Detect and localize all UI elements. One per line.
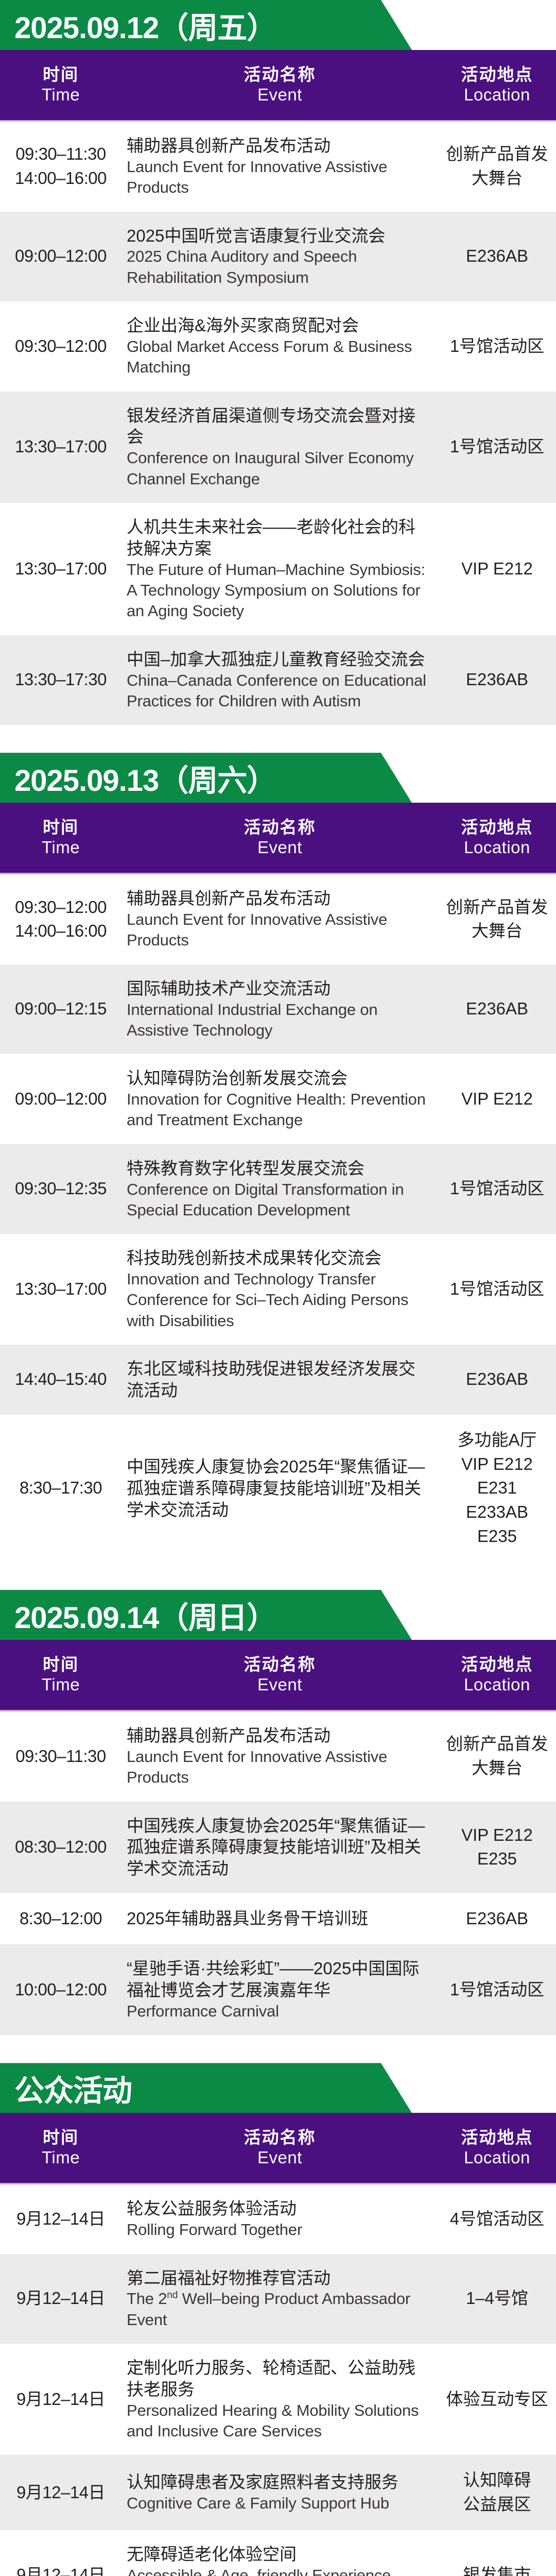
cell-time: 09:30–11:30 <box>0 1731 121 1782</box>
cell-location: 4号馆活动区 <box>438 2194 556 2245</box>
event-name-cn: 企业出海&海外买家商贸配对会 <box>127 315 429 336</box>
table-row: 09:00–12:00 2025中国听觉言语康复行业交流会 2025 China… <box>0 212 556 302</box>
column-header-time-cn: 时间 <box>0 818 121 838</box>
column-header-location: 活动地点 Location <box>438 65 556 105</box>
cell-event: 辅助器具创新产品发布活动 Launch Event for Innovative… <box>121 122 438 212</box>
column-header-location-cn: 活动地点 <box>438 1655 556 1675</box>
column-header-location-en: Location <box>438 1675 556 1695</box>
cell-location: 体验互动专区 <box>438 2374 556 2425</box>
section-banner: 2025.09.14（周日） <box>0 1590 556 1640</box>
cell-location: 1号馆活动区 <box>438 1264 556 1315</box>
cell-time: 09:00–12:00 <box>0 231 121 282</box>
table-row: 09:30–12:00 企业出海&海外买家商贸配对会 Global Market… <box>0 301 556 392</box>
column-header-event-en: Event <box>121 85 438 105</box>
event-name-cn: 2025年辅助器具业务骨干培训班 <box>127 1908 429 1929</box>
event-name-en: Rolling Forward Together <box>127 2219 429 2240</box>
event-name-en: Accessible & Age–friendly Experience Zon… <box>127 2565 429 2576</box>
event-name-en: Conference on Inaugural Silver Economy C… <box>127 448 429 489</box>
table-row: 13:30–17:00 人机共生未来社会——老龄化社会的科技解决方案 The F… <box>0 503 556 635</box>
cell-event: 中国–加拿大孤独症儿童教育经验交流会 China–Canada Conferen… <box>121 635 438 725</box>
cell-event: 2025中国听觉言语康复行业交流会 2025 China Auditory an… <box>121 212 438 302</box>
table-header-row: 时间 Time 活动名称 Event 活动地点 Location <box>0 803 556 874</box>
cell-event: 认知障碍患者及家庭照料者支持服务 Cognitive Care & Family… <box>121 2458 438 2527</box>
column-header-time-en: Time <box>0 85 121 105</box>
cell-location: E236AB <box>438 984 556 1035</box>
table-row: 13:30–17:00 银发经济首届渠道侧专场交流会暨对接会 Conferenc… <box>0 392 556 503</box>
cell-event: 中国残疾人康复协会2025年“聚焦循证—孤独症谱系障碍康复技能培训班”及相关学术… <box>121 1802 438 1893</box>
event-name-cn: 人机共生未来社会——老龄化社会的科技解决方案 <box>127 516 429 560</box>
table-row: 09:30–12:35 特殊教育数字化转型发展交流会 Conference on… <box>0 1144 556 1234</box>
banner-title: 公众活动 <box>14 2063 132 2113</box>
table-row: 9月12–14日 第二届福祉好物推荐官活动 The 2nd Well–being… <box>0 2254 556 2344</box>
event-name-cn: 东北区域科技助残促进银发经济发展交流活动 <box>127 1358 429 1401</box>
cell-location: 创新产品首发大舞台 <box>438 129 556 204</box>
cell-event: 国际辅助技术产业交流活动 International Industrial Ex… <box>121 964 438 1055</box>
column-header-event-cn: 活动名称 <box>121 1655 438 1675</box>
column-header-location: 活动地点 Location <box>438 2128 556 2168</box>
event-name-cn: 辅助器具创新产品发布活动 <box>127 888 429 909</box>
column-header-location-cn: 活动地点 <box>438 65 556 85</box>
table-row: 13:30–17:30 中国–加拿大孤独症儿童教育经验交流会 China–Can… <box>0 635 556 725</box>
cell-event: 定制化听力服务、轮椅适配、公益助残扶老服务 Personalized Heari… <box>121 2344 438 2455</box>
event-name-en: Launch Event for Innovative Assistive Pr… <box>127 1747 429 1788</box>
column-header-time-cn: 时间 <box>0 65 121 85</box>
cell-location: 1号馆活动区 <box>438 1163 556 1214</box>
cell-time: 13:30–17:00 <box>0 421 121 472</box>
cell-location: E236AB <box>438 654 556 705</box>
cell-location: E236AB <box>438 1354 556 1405</box>
cell-location: 创新产品首发大舞台 <box>438 882 556 957</box>
event-name-cn: 第二届福祉好物推荐官活动 <box>127 2267 429 2289</box>
column-header-time: 时间 Time <box>0 65 121 105</box>
cell-event: 认知障碍防治创新发展交流会 Innovation for Cognitive H… <box>121 1054 438 1144</box>
table-row: 14:40–15:40 东北区域科技助残促进银发经济发展交流活动 E236AB <box>0 1345 556 1415</box>
event-name-cn: 科技助残创新技术成果转化交流会 <box>127 1247 429 1269</box>
table-row: 10:00–12:00 “星驰手语·共绘彩虹”——2025中国国际福祉博览会才艺… <box>0 1944 556 2035</box>
event-name-en: The Future of Human–Machine Symbiosis: A… <box>127 560 429 622</box>
event-name-en: 2025 China Auditory and Speech Rehabilit… <box>127 246 429 288</box>
table-row: 09:30–11:30 辅助器具创新产品发布活动 Launch Event fo… <box>0 1711 556 1802</box>
cell-location: 1号馆活动区 <box>438 1964 556 2015</box>
event-name-en: Innovation and Technology Transfer Confe… <box>127 1269 429 1331</box>
cell-time: 09:30–12:0014:00–16:00 <box>0 882 121 957</box>
schedule-section-2: 2025.09.13（周六） 时间 Time 活动名称 Event 活动地点 L… <box>0 753 556 1562</box>
event-name-cn: 定制化听力服务、轮椅适配、公益助残扶老服务 <box>127 2357 429 2400</box>
column-header-location-cn: 活动地点 <box>438 818 556 838</box>
table-body: 9月12–14日 轮友公益服务体验活动 Rolling Forward Toge… <box>0 2184 556 2576</box>
column-header-event: 活动名称 Event <box>121 1655 438 1695</box>
cell-time: 9月12–14日 <box>0 2467 121 2518</box>
cell-location: E236AB <box>438 1893 556 1944</box>
cell-event: 中国残疾人康复协会2025年“聚焦循证—孤独症谱系障碍康复技能培训班”及相关学术… <box>121 1443 438 1534</box>
cell-time: 9月12–14日 <box>0 2194 121 2245</box>
cell-time: 9月12–14日 <box>0 2273 121 2324</box>
table-row: 9月12–14日 轮友公益服务体验活动 Rolling Forward Toge… <box>0 2184 556 2253</box>
cell-location: 创新产品首发大舞台 <box>438 1719 556 1794</box>
event-name-cn: 认知障碍防治创新发展交流会 <box>127 1067 429 1089</box>
cell-time: 8:30–17:30 <box>0 1463 121 1514</box>
table-row: 09:00–12:15 国际辅助技术产业交流活动 International I… <box>0 964 556 1055</box>
cell-time: 09:00–12:15 <box>0 984 121 1035</box>
column-header-location-cn: 活动地点 <box>438 2128 556 2148</box>
event-name-cn: 银发经济首届渠道侧专场交流会暨对接会 <box>127 405 429 448</box>
column-header-event-en: Event <box>121 1675 438 1695</box>
cell-location: VIP E212 <box>438 544 556 595</box>
table-header-row: 时间 Time 活动名称 Event 活动地点 Location <box>0 1640 556 1711</box>
event-name-en: Launch Event for Innovative Assistive Pr… <box>127 157 429 198</box>
column-header-event: 活动名称 Event <box>121 818 438 858</box>
event-name-en: Global Market Access Forum & Business Ma… <box>127 336 429 378</box>
cell-event: 企业出海&海外买家商贸配对会 Global Market Access Foru… <box>121 301 438 392</box>
table-body: 09:30–11:30 辅助器具创新产品发布活动 Launch Event fo… <box>0 1711 556 2035</box>
event-name-cn: 中国残疾人康复协会2025年“聚焦循证—孤独症谱系障碍康复技能培训班”及相关学术… <box>127 1456 429 1521</box>
column-header-time-cn: 时间 <box>0 2128 121 2148</box>
cell-location: 1–4号馆 <box>438 2273 556 2324</box>
cell-time: 13:30–17:30 <box>0 654 121 705</box>
column-header-event-cn: 活动名称 <box>121 2128 438 2148</box>
banner-title: 2025.09.13（周六） <box>14 753 276 803</box>
section-banner: 2025.09.13（周六） <box>0 753 556 803</box>
banner-title: 2025.09.14（周日） <box>14 1590 276 1640</box>
event-name-cn: 辅助器具创新产品发布活动 <box>127 1725 429 1747</box>
event-name-en: China–Canada Conference on Educational P… <box>127 670 429 712</box>
cell-location: E236AB <box>438 231 556 282</box>
event-name-en: The 2nd Well–being Product Ambassador Ev… <box>127 2289 429 2330</box>
column-header-time: 时间 Time <box>0 818 121 858</box>
column-header-time: 时间 Time <box>0 1655 121 1695</box>
event-name-cn: 2025中国听觉言语康复行业交流会 <box>127 225 429 247</box>
table-row: 9月12–14日 无障碍适老化体验空间 Accessible & Age–fri… <box>0 2530 556 2576</box>
cell-event: 无障碍适老化体验空间 Accessible & Age–friendly Exp… <box>121 2530 438 2576</box>
cell-location: 1号馆活动区 <box>438 321 556 372</box>
cell-time: 9月12–14日 <box>0 2374 121 2425</box>
cell-event: 东北区域科技助残促进银发经济发展交流活动 <box>121 1345 438 1415</box>
column-header-location: 活动地点 Location <box>438 1655 556 1695</box>
schedule-section-3: 2025.09.14（周日） 时间 Time 活动名称 Event 活动地点 L… <box>0 1590 556 2035</box>
cell-event: 第二届福祉好物推荐官活动 The 2nd Well–being Product … <box>121 2254 438 2344</box>
cell-time: 08:30–12:00 <box>0 1822 121 1873</box>
column-header-event-en: Event <box>121 838 438 858</box>
event-name-en: Conference on Digital Transformation in … <box>127 1179 429 1221</box>
event-name-cn: “星驰手语·共绘彩虹”——2025中国国际福祉博览会才艺展演嘉年华 <box>127 1958 429 2001</box>
cell-location: 1号馆活动区 <box>438 421 556 472</box>
cell-event: 银发经济首届渠道侧专场交流会暨对接会 Conference on Inaugur… <box>121 392 438 503</box>
table-row: 9月12–14日 定制化听力服务、轮椅适配、公益助残扶老服务 Personali… <box>0 2344 556 2455</box>
cell-time: 8:30–12:00 <box>0 1893 121 1944</box>
table-header-row: 时间 Time 活动名称 Event 活动地点 Location <box>0 50 556 122</box>
event-name-cn: 中国残疾人康复协会2025年“聚焦循证—孤独症谱系障碍康复技能培训班”及相关学术… <box>127 1815 429 1880</box>
table-row: 9月12–14日 认知障碍患者及家庭照料者支持服务 Cognitive Care… <box>0 2455 556 2530</box>
column-header-time-en: Time <box>0 838 121 858</box>
event-name-en: Launch Event for Innovative Assistive Pr… <box>127 909 429 951</box>
event-name-en: Performance Carnival <box>127 2001 429 2022</box>
cell-location: VIP E212 <box>438 1074 556 1125</box>
event-name-en: International Industrial Exchange on Ass… <box>127 999 429 1041</box>
cell-event: 辅助器具创新产品发布活动 Launch Event for Innovative… <box>121 874 438 964</box>
column-header-event: 活动名称 Event <box>121 2128 438 2168</box>
table-row: 09:00–12:00 认知障碍防治创新发展交流会 Innovation for… <box>0 1054 556 1144</box>
column-header-location-en: Location <box>438 2148 556 2168</box>
event-schedule-page: 2025.09.12（周五） 时间 Time 活动名称 Event 活动地点 L… <box>0 0 556 2576</box>
cell-event: 轮友公益服务体验活动 Rolling Forward Together <box>121 2184 438 2253</box>
cell-time: 10:00–12:00 <box>0 1964 121 2015</box>
cell-time: 13:30–17:00 <box>0 1264 121 1315</box>
cell-event: “星驰手语·共绘彩虹”——2025中国国际福祉博览会才艺展演嘉年华 Perfor… <box>121 1944 438 2035</box>
event-name-cn: 国际辅助技术产业交流活动 <box>127 978 429 999</box>
table-row: 8:30–12:00 2025年辅助器具业务骨干培训班 E236AB <box>0 1893 556 1944</box>
section-banner: 2025.09.12（周五） <box>0 0 556 50</box>
cell-time: 14:40–15:40 <box>0 1354 121 1405</box>
cell-time: 13:30–17:00 <box>0 544 121 595</box>
schedule-section-1: 2025.09.12（周五） 时间 Time 活动名称 Event 活动地点 L… <box>0 0 556 725</box>
banner-title: 2025.09.12（周五） <box>14 0 276 50</box>
column-header-location-en: Location <box>438 838 556 858</box>
column-header-event: 活动名称 Event <box>121 65 438 105</box>
column-header-time-en: Time <box>0 1675 121 1695</box>
table-row: 09:30–12:0014:00–16:00 辅助器具创新产品发布活动 Laun… <box>0 874 556 964</box>
column-header-time-cn: 时间 <box>0 1655 121 1675</box>
table-row: 8:30–17:30 中国残疾人康复协会2025年“聚焦循证—孤独症谱系障碍康复… <box>0 1415 556 1562</box>
table-row: 09:30–11:3014:00–16:00 辅助器具创新产品发布活动 Laun… <box>0 122 556 212</box>
cell-event: 人机共生未来社会——老龄化社会的科技解决方案 The Future of Hum… <box>121 503 438 635</box>
table-row: 08:30–12:00 中国残疾人康复协会2025年“聚焦循证—孤独症谱系障碍康… <box>0 1802 556 1893</box>
column-header-event-en: Event <box>121 2148 438 2168</box>
cell-location: VIP E212E235 <box>438 1810 556 1885</box>
event-name-en: Personalized Hearing & Mobility Solution… <box>127 2400 429 2442</box>
cell-time: 09:30–12:35 <box>0 1163 121 1214</box>
column-header-event-cn: 活动名称 <box>121 818 438 838</box>
event-name-cn: 辅助器具创新产品发布活动 <box>127 135 429 157</box>
cell-time: 09:30–11:3014:00–16:00 <box>0 129 121 204</box>
table-row: 13:30–17:00 科技助残创新技术成果转化交流会 Innovation a… <box>0 1234 556 1345</box>
cell-event: 特殊教育数字化转型发展交流会 Conference on Digital Tra… <box>121 1144 438 1234</box>
column-header-location: 活动地点 Location <box>438 818 556 858</box>
cell-time: 09:00–12:00 <box>0 1074 121 1125</box>
cell-event: 科技助残创新技术成果转化交流会 Innovation and Technolog… <box>121 1234 438 1345</box>
table-header-row: 时间 Time 活动名称 Event 活动地点 Location <box>0 2113 556 2184</box>
cell-time: 09:30–12:00 <box>0 321 121 372</box>
cell-event: 辅助器具创新产品发布活动 Launch Event for Innovative… <box>121 1711 438 1802</box>
column-header-event-cn: 活动名称 <box>121 65 438 85</box>
column-header-location-en: Location <box>438 85 556 105</box>
column-header-time: 时间 Time <box>0 2128 121 2168</box>
column-header-time-en: Time <box>0 2148 121 2168</box>
event-name-cn: 中国–加拿大孤独症儿童教育经验交流会 <box>127 649 429 670</box>
event-name-en: Cognitive Care & Family Support Hub <box>127 2493 429 2514</box>
table-body: 09:30–12:0014:00–16:00 辅助器具创新产品发布活动 Laun… <box>0 874 556 1562</box>
section-banner: 公众活动 <box>0 2063 556 2113</box>
event-name-en: Innovation for Cognitive Health: Prevent… <box>127 1089 429 1131</box>
event-name-cn: 轮友公益服务体验活动 <box>127 2198 429 2219</box>
table-body: 09:30–11:3014:00–16:00 辅助器具创新产品发布活动 Laun… <box>0 122 556 725</box>
event-name-cn: 特殊教育数字化转型发展交流会 <box>127 1158 429 1179</box>
cell-location: 多功能A厅VIP E212E231E233ABE235 <box>438 1415 556 1562</box>
cell-event: 2025年辅助器具业务骨干培训班 <box>121 1894 438 1943</box>
schedule-section-4: 公众活动 时间 Time 活动名称 Event 活动地点 Location 9月… <box>0 2063 556 2576</box>
event-name-cn: 认知障碍患者及家庭照料者支持服务 <box>127 2471 429 2493</box>
cell-location: 银发集市 <box>438 2550 556 2576</box>
cell-location: 认知障碍公益展区 <box>438 2455 556 2530</box>
cell-time: 9月12–14日 <box>0 2550 121 2576</box>
